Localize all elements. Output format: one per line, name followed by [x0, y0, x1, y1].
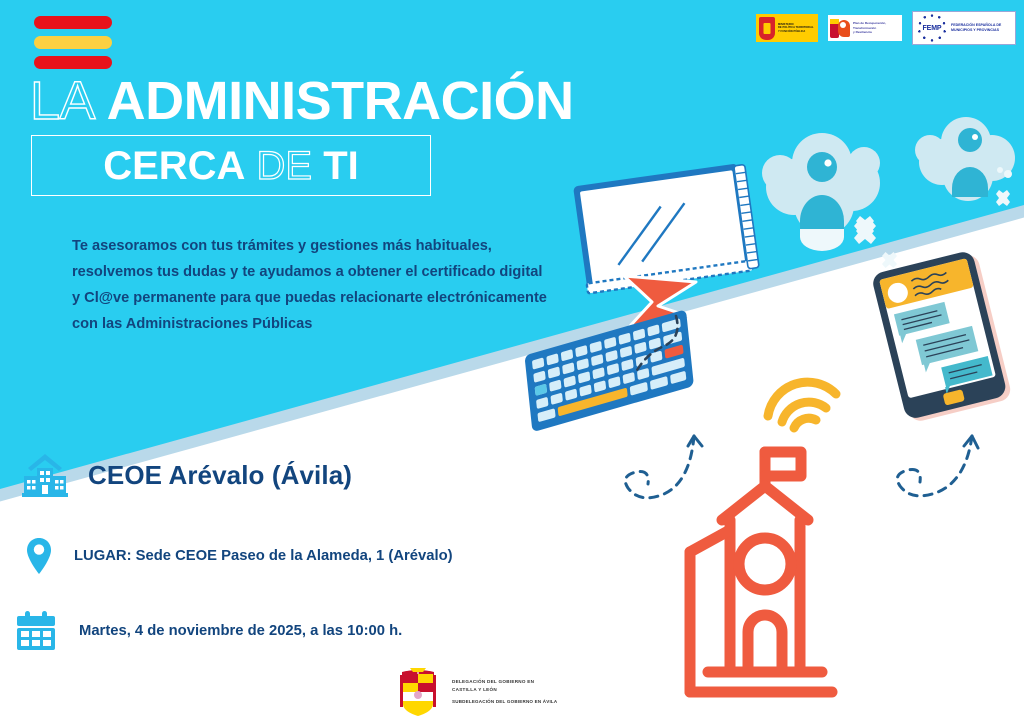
venue-title: CEOE Arévalo (Ávila): [88, 460, 352, 491]
flag-bar-red-bottom: [34, 56, 112, 69]
desktop-monitor-illustration: [566, 160, 766, 320]
subtitle-line: CERCA DE TI: [103, 146, 359, 186]
calendar-icon: [15, 610, 57, 652]
spain-coat-of-arms-icon: [392, 667, 444, 715]
subtitle-ti: TI: [323, 144, 359, 188]
prtr-line3: y Resiliencia: [853, 30, 886, 35]
subtitle-box: CERCA DE TI: [31, 135, 431, 196]
prtr-line1: Plan de Recuperación,: [853, 21, 886, 26]
page-title: LA ADMINISTRACIÓN: [30, 74, 574, 128]
flag-bar-yellow: [34, 36, 112, 49]
delegacion-line3: SUBDELEGACIÓN DEL GOBIERNO EN ÁVILA: [452, 699, 557, 704]
location-pin-icon: [26, 537, 52, 575]
spanish-flag: [34, 16, 112, 76]
detail-row-lugar: LUGAR: Sede CEOE Paseo de la Alameda, 1 …: [26, 537, 453, 575]
ministerio-logo-text: MINISTERIO DE POLÍTICA TERRITORIAL Y FUN…: [778, 23, 814, 34]
femp-stars-icon: FEMP: [917, 14, 947, 42]
femp-logo-text: FEDERACIÓN ESPAÑOLA DE MUNICIPIOS Y PROV…: [951, 23, 1001, 34]
cloud-user-avatar-small: [908, 112, 1024, 212]
subtitle-cerca: CERCA: [103, 144, 245, 188]
cloud-dots-trail: [846, 222, 926, 292]
dashed-arrow-left: [608, 428, 718, 538]
venue-row: CEOE Arévalo (Ávila): [20, 452, 352, 498]
coat-of-arms-icon: [759, 17, 775, 40]
body-paragraph: Te asesoramos con tus trámites y gestion…: [72, 234, 550, 338]
subtitle-de: DE: [257, 144, 313, 188]
dashed-arrow-monitor-keyboard: [612, 310, 702, 380]
femp-logo: FEMP FEDERACIÓN ESPAÑOLA DE MUNICIPIOS Y…: [912, 11, 1016, 45]
town-hall-building-illustration: [650, 424, 930, 716]
detail-text-lugar: LUGAR: Sede CEOE Paseo de la Alameda, 1 …: [74, 548, 453, 564]
institution-icon: [20, 452, 70, 498]
orange-cursor-arrow: [618, 272, 718, 342]
delegacion-line1: DELEGACIÓN DEL GOBIERNO EN: [452, 679, 557, 684]
wifi-signal-icon: [760, 372, 852, 434]
delegacion-logo-text: DELEGACIÓN DEL GOBIERNO EN CASTILLA Y LE…: [452, 679, 557, 704]
tablet-chat-illustration: [868, 252, 1024, 422]
poster-root: MINISTERIO DE POLÍTICA TERRITORIAL Y FUN…: [0, 0, 1024, 722]
detail-text-fecha: Martes, 4 de noviembre de 2025, a las 10…: [79, 623, 402, 639]
delegacion-line2: CASTILLA Y LEÓN: [452, 687, 557, 692]
headline-thin-word: LA: [30, 71, 92, 131]
cloud-user-avatar-large: [752, 125, 892, 245]
flag-bar-red-top: [34, 16, 112, 29]
top-logo-strip: MINISTERIO DE POLÍTICA TERRITORIAL Y FUN…: [756, 11, 1016, 45]
femp-line2: MUNICIPIOS Y PROVINCIAS: [951, 28, 1001, 33]
ministerio-line3: Y FUNCIÓN PÚBLICA: [778, 30, 814, 34]
plan-recuperacion-logo: Plan de Recuperación, Transformación y R…: [828, 15, 902, 41]
tr-mark-icon: [830, 19, 850, 38]
prtr-logo-text: Plan de Recuperación, Transformación y R…: [853, 21, 886, 35]
keyboard-illustration: [528, 318, 718, 428]
detail-row-fecha: Martes, 4 de noviembre de 2025, a las 10…: [15, 610, 402, 652]
headline-bold-word: ADMINISTRACIÓN: [107, 71, 574, 131]
delegacion-gobierno-logo: DELEGACIÓN DEL GOBIERNO EN CASTILLA Y LE…: [392, 664, 630, 718]
ministerio-logo: MINISTERIO DE POLÍTICA TERRITORIAL Y FUN…: [756, 14, 818, 42]
dashed-arrow-right: [880, 430, 1000, 540]
